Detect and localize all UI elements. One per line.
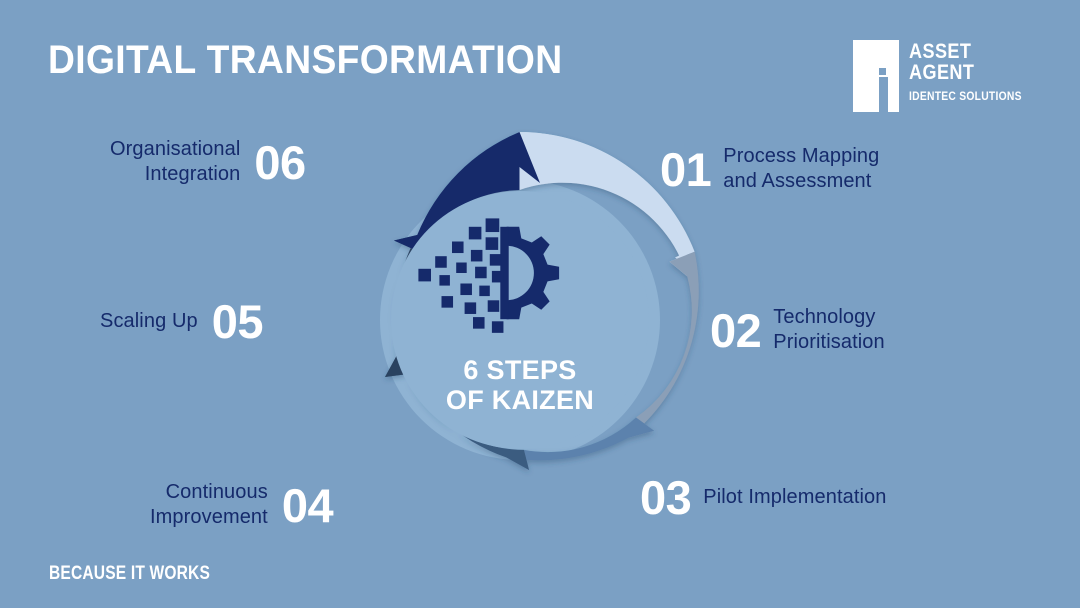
step-text-05-line-1: Scaling Up [100, 310, 198, 332]
asset-agent-logo-mark-icon [853, 40, 899, 112]
step-label-03[interactable]: 03 Pilot Implementation [640, 474, 886, 521]
logo-wordmark: ASSET AGENT IDENTEC SOLUTIONS [909, 40, 1040, 103]
step-number-03: 03 [640, 474, 691, 521]
step-text-03: Pilot Implementation [703, 485, 886, 510]
step-text-06-line-1: Organisational [110, 138, 240, 160]
wheel-inner-disc-overlay [391, 191, 649, 449]
infographic-canvas: DIGITAL TRANSFORMATION [0, 0, 1080, 608]
step-number-01: 01 [660, 146, 711, 193]
step-text-05: Scaling Up [100, 309, 198, 334]
step-text-02: Technology Prioritisation [773, 305, 884, 355]
logo-line-1: ASSET [909, 42, 1022, 63]
brand-logo: ASSET AGENT IDENTEC SOLUTIONS [853, 40, 1040, 112]
step-label-05[interactable]: Scaling Up 05 [100, 298, 263, 345]
step-text-02-line-1: Technology [773, 306, 875, 328]
step-text-04-line-1: Continuous [166, 481, 268, 503]
step-text-04: Continuous Improvement [150, 480, 268, 530]
page-title: DIGITAL TRANSFORMATION [48, 38, 562, 83]
step-text-01-line-1: Process Mapping [723, 145, 879, 167]
step-text-06-line-2: Integration [145, 163, 241, 185]
step-label-02[interactable]: 02 Technology Prioritisation [710, 305, 885, 355]
brand-tagline: BECAUSE IT WORKS [49, 563, 210, 585]
step-text-06: Organisational Integration [110, 137, 240, 187]
step-number-05: 05 [212, 298, 263, 345]
step-text-01-line-2: and Assessment [723, 170, 871, 192]
step-number-02: 02 [710, 307, 761, 354]
step-label-04[interactable]: Continuous Improvement 04 [150, 480, 333, 530]
logo-line-2: AGENT [909, 63, 1022, 84]
step-label-06[interactable]: Organisational Integration 06 [110, 137, 306, 187]
step-text-03-line-1: Pilot Implementation [703, 486, 886, 508]
step-number-04: 04 [282, 482, 333, 529]
step-text-02-line-2: Prioritisation [773, 331, 884, 353]
step-text-01: Process Mapping and Assessment [723, 144, 879, 194]
logo-line-3: IDENTEC SOLUTIONS [909, 89, 1022, 103]
step-label-01[interactable]: 01 Process Mapping and Assessment [660, 144, 879, 194]
step-number-06: 06 [254, 139, 305, 186]
step-text-04-line-2: Improvement [150, 506, 268, 528]
